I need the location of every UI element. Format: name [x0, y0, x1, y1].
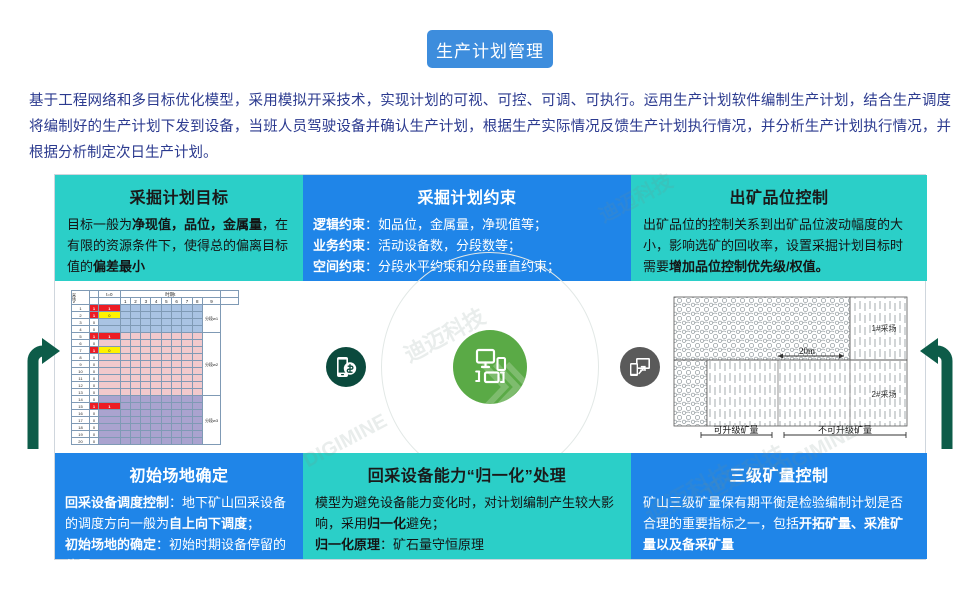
cell-period[interactable] — [192, 438, 202, 445]
cell-period[interactable] — [182, 403, 192, 410]
slide-root: 生产计划管理 基于工程网络和多目标优化模型，采用模拟开采技术，实现计划的可视、可… — [0, 0, 980, 591]
cell-period[interactable] — [192, 312, 202, 319]
constraint-row: 逻辑约束：如品位，金属量，净现值等； — [313, 214, 619, 235]
cell-period[interactable] — [151, 431, 161, 438]
cell-period[interactable] — [99, 410, 121, 417]
cell-period[interactable] — [141, 326, 151, 333]
cell-period[interactable] — [130, 417, 140, 424]
cell-t0[interactable]: 0 — [90, 431, 99, 438]
group-label: 分段w1 — [203, 305, 221, 333]
cell-period[interactable] — [192, 431, 202, 438]
cell-period[interactable] — [192, 319, 202, 326]
col-label: 6 — [172, 298, 182, 305]
cell-period[interactable] — [172, 361, 182, 368]
constraint-value: 如品位，金属量，净现值等； — [378, 217, 547, 232]
panel-mining-plan-objective[interactable]: 采掘计划目标 目标一般为净现值，品位，金属量，在有限的资源条件下，使得总的偏离目… — [55, 175, 303, 281]
cell-t0[interactable]: 0 — [90, 424, 99, 431]
cell-period[interactable] — [161, 438, 171, 445]
panel-body: 模型为避免设备能力变化时，对计划编制产生较大影响，采用归一化避免； 归一化原理：… — [303, 492, 631, 555]
cell-period[interactable] — [161, 312, 171, 319]
panel-title: 三级矿量控制 — [631, 462, 927, 486]
cell-period[interactable] — [141, 333, 151, 340]
text-run: 避免； — [406, 516, 445, 531]
cell-t0[interactable]: 0 — [90, 361, 99, 368]
row-number: 3 — [72, 319, 90, 326]
cell-period[interactable] — [120, 305, 130, 312]
row-number: 4 — [72, 326, 90, 333]
cell-period[interactable] — [182, 410, 192, 417]
col-label: 5 — [161, 298, 171, 305]
cell-period[interactable] — [130, 438, 140, 445]
cell-period[interactable] — [161, 354, 171, 361]
text-run: 模型为避免设备能力变化时，对计划编制产生较大影响，采用 — [315, 495, 614, 531]
row-number: 10 — [72, 368, 90, 375]
cell-period[interactable] — [172, 431, 182, 438]
row-number: 11 — [72, 375, 90, 382]
period-header: 时期t — [120, 291, 220, 298]
cell-period[interactable] — [151, 424, 161, 431]
text-run: ：矿石量守恒原理 — [380, 537, 484, 552]
col-label: 7 — [182, 298, 192, 305]
cell-period[interactable] — [130, 396, 140, 403]
cell-period[interactable] — [172, 438, 182, 445]
cell-period[interactable] — [192, 410, 202, 417]
cell-period[interactable] — [151, 403, 161, 410]
cell-period[interactable] — [141, 396, 151, 403]
cell-period[interactable] — [182, 326, 192, 333]
cell-period[interactable] — [151, 438, 161, 445]
cell-period[interactable] — [130, 326, 140, 333]
cell-period[interactable] — [120, 382, 130, 389]
cell-period[interactable] — [141, 403, 151, 410]
cell-period[interactable] — [172, 417, 182, 424]
cell-period[interactable] — [192, 326, 202, 333]
cell-period[interactable] — [161, 375, 171, 382]
cell-period[interactable] — [151, 382, 161, 389]
cell-t0[interactable]: 0 — [90, 417, 99, 424]
cell-period[interactable] — [161, 326, 171, 333]
cell-period[interactable] — [161, 333, 171, 340]
cell-period[interactable] — [161, 347, 171, 354]
cell-period[interactable] — [141, 340, 151, 347]
cell-period[interactable] — [192, 347, 202, 354]
cell-period[interactable] — [99, 389, 121, 396]
cell-t0[interactable]: 0 — [90, 410, 99, 417]
cell-period[interactable] — [141, 431, 151, 438]
cell-t0[interactable]: 0 — [90, 396, 99, 403]
cell-period[interactable] — [192, 354, 202, 361]
panel-title: 出矿品位控制 — [631, 184, 927, 208]
cell-t0[interactable]: 1 — [90, 403, 99, 410]
blank-cell — [221, 298, 239, 305]
cell-period[interactable] — [130, 431, 140, 438]
production-schedule-table[interactable]: 采场s t=0 时期t 1 2 3 4 5 — [71, 290, 239, 445]
cell-period[interactable] — [182, 319, 192, 326]
cell-period[interactable] — [141, 361, 151, 368]
arrow-up-right-icon — [22, 327, 62, 449]
text-run-bold: 增加品位控制优先级/权值。 — [669, 259, 829, 274]
panel-body: 出矿品位的控制关系到出矿品位波动幅度的大小，影响选矿的回收率，设置采掘计划目标时… — [631, 214, 927, 277]
cell-period[interactable] — [161, 382, 171, 389]
cell-period[interactable] — [141, 417, 151, 424]
cell-period[interactable] — [172, 354, 182, 361]
cell-period[interactable] — [120, 389, 130, 396]
row-num-header — [90, 298, 99, 305]
mobile-payment-icon[interactable] — [326, 347, 366, 387]
cell-period[interactable] — [130, 305, 140, 312]
cell-period[interactable] — [120, 347, 130, 354]
cell-period[interactable] — [130, 424, 140, 431]
col-label: 9 — [203, 298, 221, 305]
cell-t0[interactable]: 0 — [90, 389, 99, 396]
arrow-up-left-icon — [918, 327, 958, 449]
cell-period[interactable] — [161, 424, 171, 431]
cell-t0[interactable]: 0 — [90, 375, 99, 382]
cell-period[interactable] — [192, 368, 202, 375]
cell-period[interactable]: 1 — [99, 403, 121, 410]
detail-label: 归一化原理 — [315, 537, 380, 552]
group-label: 分段w3 — [203, 396, 221, 445]
cell-period[interactable] — [99, 396, 121, 403]
table-header-row: 采场s t=0 时期t — [72, 291, 239, 298]
col-label: 4 — [151, 298, 161, 305]
cell-period[interactable] — [141, 312, 151, 319]
col-label: 2 — [130, 298, 140, 305]
cell-period[interactable] — [151, 375, 161, 382]
cell-period[interactable] — [192, 382, 202, 389]
text-run-bold: 净现值，品位，金属量 — [132, 217, 262, 232]
cell-period[interactable] — [130, 382, 140, 389]
table-row[interactable]: 140分段w3 — [72, 396, 239, 403]
cell-period[interactable] — [120, 319, 130, 326]
cell-period[interactable] — [172, 347, 182, 354]
cell-period[interactable] — [141, 438, 151, 445]
cell-period[interactable] — [151, 319, 161, 326]
cell-period[interactable] — [182, 438, 192, 445]
cell-period[interactable] — [141, 389, 151, 396]
cell-period[interactable] — [172, 319, 182, 326]
cell-period[interactable] — [130, 340, 140, 347]
cell-period[interactable] — [172, 340, 182, 347]
zero-col-header: t=0 — [99, 291, 121, 298]
cell-period[interactable] — [182, 424, 192, 431]
cell-period[interactable] — [172, 368, 182, 375]
cell-period[interactable] — [99, 354, 121, 361]
mining-section-diagram[interactable]: 20m 1#采场 2#采场 可升级矿量 不可升级矿量 — [668, 289, 913, 447]
panel-body: 目标一般为净现值，品位，金属量，在有限的资源条件下，使得总的偏离目标值的偏差最小 — [55, 214, 303, 277]
cell-period[interactable] — [161, 417, 171, 424]
col-label: 3 — [141, 298, 151, 305]
cell-period[interactable] — [161, 389, 171, 396]
panel-equipment-normalization[interactable]: 回采设备能力“归一化”处理 模型为避免设备能力变化时，对计划编制产生较大影响，采… — [303, 453, 631, 559]
cell-period[interactable] — [130, 389, 140, 396]
cell-period[interactable] — [141, 305, 151, 312]
table-row[interactable]: 111分段w1 — [72, 305, 239, 312]
cell-period[interactable] — [120, 326, 130, 333]
cell-period[interactable] — [120, 410, 130, 417]
cell-period[interactable] — [141, 375, 151, 382]
cell-period[interactable] — [141, 347, 151, 354]
cell-period[interactable] — [161, 361, 171, 368]
cell-period[interactable] — [151, 312, 161, 319]
legend-left: 可升级矿量 — [713, 424, 758, 435]
cell-period[interactable] — [182, 347, 192, 354]
cell-period[interactable] — [130, 361, 140, 368]
cell-period[interactable] — [182, 396, 192, 403]
cell-period[interactable] — [120, 361, 130, 368]
cell-period[interactable] — [182, 375, 192, 382]
cell-t0[interactable]: 1 — [90, 305, 99, 312]
cell-period[interactable] — [120, 340, 130, 347]
cell-period[interactable] — [172, 326, 182, 333]
cell-period[interactable] — [141, 410, 151, 417]
cell-period[interactable] — [192, 417, 202, 424]
cell-period[interactable]: 0 — [99, 347, 121, 354]
cell-period[interactable] — [182, 340, 192, 347]
row-number: 17 — [72, 417, 90, 424]
legend-right: 不可升级矿量 — [818, 424, 872, 435]
panel-title: 采掘计划约束 — [303, 184, 631, 208]
cell-period[interactable] — [99, 361, 121, 368]
group-label: 分段w2 — [203, 333, 221, 396]
cell-period[interactable] — [192, 389, 202, 396]
cell-t0[interactable]: 0 — [90, 368, 99, 375]
panel-initial-site-determination[interactable]: 初始场地确定 回采设备调度控制：地下矿山回采设备的调度方向一般为自上向下调度； … — [55, 453, 303, 559]
col-label: 1 — [120, 298, 130, 305]
block-label-1: 1#采场 — [872, 323, 897, 333]
cell-period[interactable] — [172, 305, 182, 312]
cell-period[interactable] — [161, 403, 171, 410]
cell-period[interactable] — [99, 431, 121, 438]
row-number: 20 — [72, 438, 90, 445]
detail-row: 归一化原理：矿石量守恒原理 — [315, 534, 619, 555]
block-label-2: 2#采场 — [872, 389, 897, 399]
diagram-middle: 采场s t=0 时期t 1 2 3 4 5 — [55, 281, 925, 453]
row-number: 5 — [72, 333, 90, 340]
text-run-bold: 归一化 — [367, 516, 406, 531]
cell-period[interactable] — [120, 312, 130, 319]
cell-period[interactable] — [99, 368, 121, 375]
cell-period[interactable] — [192, 340, 202, 347]
detail-label: 回采设备调度控制 — [65, 495, 169, 510]
col-label: 8 — [192, 298, 202, 305]
cell-period[interactable] — [120, 354, 130, 361]
text-run: ； — [247, 516, 260, 531]
cell-period[interactable] — [182, 417, 192, 424]
cell-period[interactable] — [192, 361, 202, 368]
cell-period[interactable] — [192, 305, 202, 312]
cell-period[interactable] — [151, 326, 161, 333]
row-number: 6 — [72, 340, 90, 347]
dimension-label: 20m — [799, 346, 815, 356]
cell-period[interactable] — [182, 361, 192, 368]
cell-period[interactable] — [151, 354, 161, 361]
row-number: 15 — [72, 403, 90, 410]
row-number: 19 — [72, 431, 90, 438]
cell-t0[interactable]: 1 — [90, 347, 99, 354]
cell-period[interactable] — [182, 389, 192, 396]
cell-period[interactable] — [151, 396, 161, 403]
cell-period[interactable] — [172, 389, 182, 396]
cell-period[interactable] — [151, 410, 161, 417]
cell-period[interactable] — [99, 340, 121, 347]
cell-period[interactable] — [151, 389, 161, 396]
cell-period[interactable] — [192, 403, 202, 410]
cell-period[interactable] — [182, 354, 192, 361]
cell-period[interactable] — [151, 305, 161, 312]
cell-period[interactable] — [192, 375, 202, 382]
cell-period[interactable] — [130, 403, 140, 410]
cell-period[interactable] — [161, 396, 171, 403]
row-axis-label: 采场s — [72, 291, 90, 305]
row-number: 16 — [72, 410, 90, 417]
cell-t0[interactable]: 0 — [90, 319, 99, 326]
diagram-frame: 采掘计划目标 目标一般为净现值，品位，金属量，在有限的资源条件下，使得总的偏离目… — [54, 174, 926, 560]
cell-period[interactable] — [141, 424, 151, 431]
cell-t0[interactable]: 0 — [90, 326, 99, 333]
cell-period[interactable] — [192, 424, 202, 431]
cell-period[interactable] — [182, 305, 192, 312]
cell-period[interactable] — [151, 417, 161, 424]
cell-period[interactable] — [172, 424, 182, 431]
cell-period[interactable] — [182, 431, 192, 438]
row-number: 2 — [72, 312, 90, 319]
constraint-label: 逻辑约束 — [313, 217, 365, 232]
cell-period[interactable] — [99, 326, 121, 333]
cell-period[interactable]: 1 — [99, 333, 121, 340]
cell-period[interactable] — [161, 431, 171, 438]
cell-period[interactable] — [192, 333, 202, 340]
row-axis-text: 采场s — [72, 293, 77, 303]
detail-row: 回采设备调度控制：地下矿山回采设备的调度方向一般为自上向下调度； — [65, 492, 291, 534]
cell-period[interactable] — [120, 368, 130, 375]
cell-t0[interactable]: 1 — [90, 333, 99, 340]
text-run: 目标一般为 — [67, 217, 132, 232]
cell-period[interactable] — [172, 396, 182, 403]
cell-period[interactable]: 0 — [99, 312, 121, 319]
cell-t0[interactable]: 0 — [90, 354, 99, 361]
cell-period[interactable] — [161, 368, 171, 375]
cell-period[interactable] — [99, 319, 121, 326]
cell-t0[interactable]: 0 — [90, 438, 99, 445]
cell-period[interactable]: 1 — [99, 305, 121, 312]
row-number: 1 — [72, 305, 90, 312]
panel-title: 初始场地确定 — [55, 462, 303, 486]
row-number: 13 — [72, 389, 90, 396]
cell-period[interactable] — [141, 368, 151, 375]
cell-period[interactable] — [172, 333, 182, 340]
cell-period[interactable] — [161, 340, 171, 347]
panel-title: 回采设备能力“归一化”处理 — [303, 462, 631, 486]
cell-period[interactable] — [130, 333, 140, 340]
blank-cell — [99, 298, 121, 305]
cell-t0[interactable]: 0 — [90, 340, 99, 347]
detail-label: 初始场地的确定 — [65, 537, 156, 552]
cell-period[interactable] — [120, 375, 130, 382]
table-subheader-row: 1 2 3 4 5 6 7 8 9 — [72, 298, 239, 305]
constraint-label: 空间约束 — [313, 259, 365, 274]
row-number: 8 — [72, 354, 90, 361]
cell-period[interactable] — [182, 382, 192, 389]
cell-period[interactable] — [182, 333, 192, 340]
cell-period[interactable] — [141, 354, 151, 361]
cell-period[interactable] — [161, 410, 171, 417]
cell-period[interactable] — [151, 347, 161, 354]
cell-period[interactable] — [172, 375, 182, 382]
page-title-badge: 生产计划管理 — [427, 30, 553, 68]
cell-period[interactable] — [182, 368, 192, 375]
cell-period[interactable] — [141, 319, 151, 326]
cell-period[interactable] — [172, 312, 182, 319]
cell-t0[interactable]: 0 — [90, 382, 99, 389]
cell-period[interactable] — [130, 347, 140, 354]
group-col-header — [221, 291, 239, 298]
text-run-bold: 自上向下调度 — [169, 516, 247, 531]
panel-ore-grade-control[interactable]: 出矿品位控制 出矿品位的控制关系到出矿品位波动幅度的大小，影响选矿的回收率，设置… — [631, 175, 927, 281]
cell-period[interactable] — [151, 368, 161, 375]
responsive-devices-icon[interactable] — [620, 347, 660, 387]
cell-period[interactable] — [151, 340, 161, 347]
cell-period[interactable] — [99, 438, 121, 445]
cell-period[interactable] — [130, 354, 140, 361]
page-title: 生产计划管理 — [436, 37, 544, 62]
cell-period[interactable] — [161, 319, 171, 326]
cell-period[interactable] — [172, 410, 182, 417]
panel-body: 矿山三级矿量保有期平衡是检验编制计划是否合理的重要指标之一，包括开拓矿量、采准矿… — [631, 492, 927, 555]
cell-period[interactable] — [120, 403, 130, 410]
constraint-value: 活动设备数，分段数等； — [378, 238, 521, 253]
cell-period[interactable] — [99, 382, 121, 389]
panel-title: 采掘计划目标 — [55, 184, 303, 208]
upgradeable-rock-block — [674, 297, 850, 360]
cell-period[interactable] — [141, 382, 151, 389]
cell-period[interactable] — [120, 396, 130, 403]
schedule-rows: 111分段w12103040511分段w26071080901001101201… — [72, 305, 239, 445]
constraint-label: 业务约束 — [313, 238, 365, 253]
cell-period[interactable] — [151, 333, 161, 340]
cell-period[interactable] — [120, 431, 130, 438]
table-row[interactable]: 511分段w2 — [72, 333, 239, 340]
cell-period[interactable] — [120, 333, 130, 340]
row-number: 9 — [72, 361, 90, 368]
cell-period[interactable] — [99, 417, 121, 424]
cell-period[interactable] — [161, 305, 171, 312]
schedule-grid: 采场s t=0 时期t 1 2 3 4 5 — [71, 290, 239, 445]
text-run-bold: 偏差最小 — [93, 259, 145, 274]
cell-period[interactable] — [99, 375, 121, 382]
row-number: 14 — [72, 396, 90, 403]
cell-period[interactable] — [120, 438, 130, 445]
panel-three-level-reserve-control[interactable]: 三级矿量控制 矿山三级矿量保有期平衡是检验编制计划是否合理的重要指标之一，包括开… — [631, 453, 927, 559]
cell-period[interactable] — [120, 417, 130, 424]
cell-period[interactable] — [130, 312, 140, 319]
connected-devices-icon[interactable] — [453, 330, 527, 404]
row-number: 18 — [72, 424, 90, 431]
cell-period[interactable] — [172, 382, 182, 389]
cell-period[interactable] — [130, 410, 140, 417]
cell-period[interactable] — [151, 361, 161, 368]
cell-t0[interactable]: 1 — [90, 312, 99, 319]
cell-period[interactable] — [130, 319, 140, 326]
cell-period[interactable] — [120, 424, 130, 431]
cell-period[interactable] — [130, 375, 140, 382]
cell-period[interactable] — [172, 403, 182, 410]
row-number: 12 — [72, 382, 90, 389]
cell-period[interactable] — [99, 424, 121, 431]
cell-period[interactable] — [130, 368, 140, 375]
cell-period[interactable] — [192, 396, 202, 403]
cell-period[interactable] — [182, 312, 192, 319]
